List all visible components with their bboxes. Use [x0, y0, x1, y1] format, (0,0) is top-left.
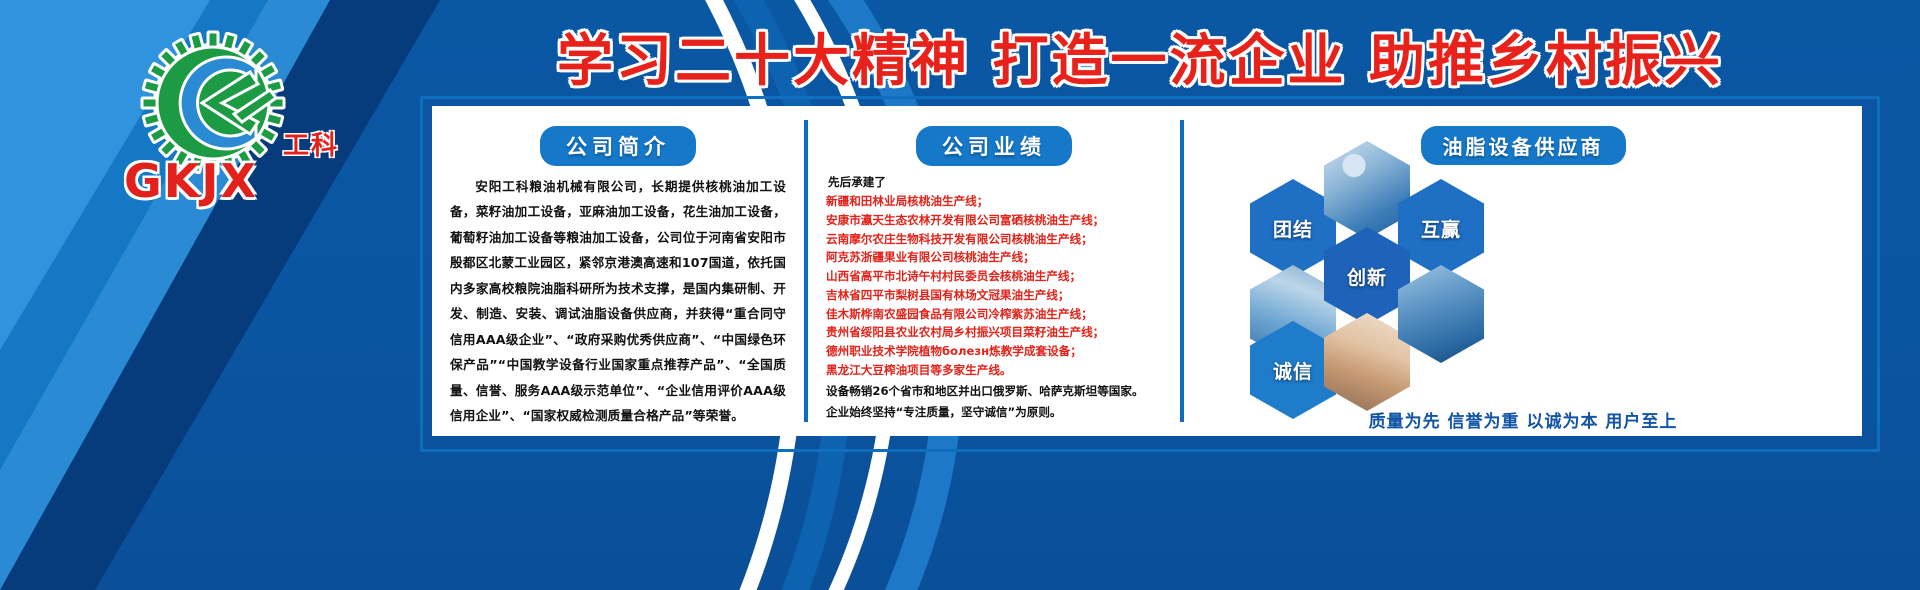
hex-photo-1: [1324, 141, 1410, 239]
achievement-item: 安康市瀛天生态农林开发有限公司富硒核桃油生产线；: [826, 211, 1162, 230]
hex-value-5: 诚信: [1250, 321, 1336, 419]
logo-chinese-name: 工科: [283, 125, 339, 162]
hex-photo-6: [1324, 313, 1410, 411]
headline-text: 学习二十大精神 打造一流企业 助推乡村振兴: [557, 16, 1723, 97]
hex-label: 互赢: [1421, 215, 1461, 242]
achievement-item: 德州职业技术学院植物болезн炼教学成套设备；: [826, 342, 1162, 361]
achievement-item: 黑龙江大豆榨油项目等多家生产线。: [826, 361, 1162, 380]
panel2-footer-line: 企业始终坚持“专注质量，坚守诚信”为原则。: [826, 403, 1162, 422]
content-card: 公司简介 安阳工科粮油机械有限公司，长期提供核桃油加工设备，菜籽油加工设备，亚麻…: [432, 106, 1862, 436]
logo-english-name: GKJX: [124, 154, 258, 208]
panel-oil-equipment-supplier: 油脂设备供应商 团结互赢创新诚信 质量为先 信誉为重 以诚为本 用户至上: [1184, 106, 1862, 436]
poster-headline: 学习二十大精神 打造一流企业 助推乡村振兴: [430, 18, 1850, 94]
panel2-lead: 先后承建了: [828, 174, 1162, 190]
panel2-title: 公司业绩: [916, 126, 1072, 166]
achievement-item: 阿克苏浙疆果业有限公司核桃油生产线；: [826, 248, 1162, 267]
panel-company-profile: 公司简介 安阳工科粮油机械有限公司，长期提供核桃油加工设备，菜籽油加工设备，亚麻…: [432, 106, 804, 436]
bottom-blue-strip: [0, 440, 1920, 590]
achievement-item: 新疆和田林业局核桃油生产线；: [826, 192, 1162, 211]
achievement-list: 新疆和田林业局核桃油生产线；安康市瀛天生态农林开发有限公司富硒核桃油生产线；云南…: [826, 192, 1162, 380]
achievement-item: 吉林省四平市梨树县国有林场文冠果油生产线；: [826, 286, 1162, 305]
hex-value-4: 创新: [1324, 227, 1410, 325]
achievement-item: 佳木斯桦南农盛园食品有限公司冷榨紫苏油生产线；: [826, 305, 1162, 324]
panel2-footer-line: 设备畅销26个省市和地区并出口俄罗斯、哈萨克斯坦等国家。: [826, 382, 1162, 401]
panel-company-achievements: 公司业绩 先后承建了 新疆和田林业局核桃油生产线；安康市瀛天生态农林开发有限公司…: [808, 106, 1180, 436]
achievement-item: 贵州省绥阳县农业农村局乡村振兴项目菜籽油生产线；: [826, 323, 1162, 342]
company-logo: 工科 GKJX: [118, 26, 333, 206]
panel1-title: 公司简介: [540, 126, 696, 166]
panel3-slogan: 质量为先 信誉为重 以诚为本 用户至上: [1184, 407, 1862, 432]
achievement-item: 山西省高平市北诗午村村民委员会核桃油生产线；: [826, 267, 1162, 286]
hex-cluster: 团结互赢创新诚信: [1202, 169, 1844, 384]
panel3-title: 油脂设备供应商: [1421, 126, 1626, 165]
hex-label: 团结: [1273, 215, 1313, 242]
hex-label: 诚信: [1273, 357, 1313, 384]
panel2-footer: 设备畅销26个省市和地区并出口俄罗斯、哈萨克斯坦等国家。企业始终坚持“专注质量，…: [826, 382, 1162, 422]
hex-photo-7: [1398, 265, 1484, 363]
achievement-item: 云南摩尔农庄生物科技开发有限公司核桃油生产线；: [826, 230, 1162, 249]
poster-board: 工科 GKJX 学习二十大精神 打造一流企业 助推乡村振兴 公司简介 安阳工科粮…: [0, 0, 1920, 590]
hex-value-0: 团结: [1250, 179, 1336, 277]
hex-value-2: 互赢: [1398, 179, 1484, 277]
panel1-body: 安阳工科粮油机械有限公司，长期提供核桃油加工设备，菜籽油加工设备，亚麻油加工设备…: [450, 174, 786, 428]
hex-label: 创新: [1347, 263, 1387, 290]
